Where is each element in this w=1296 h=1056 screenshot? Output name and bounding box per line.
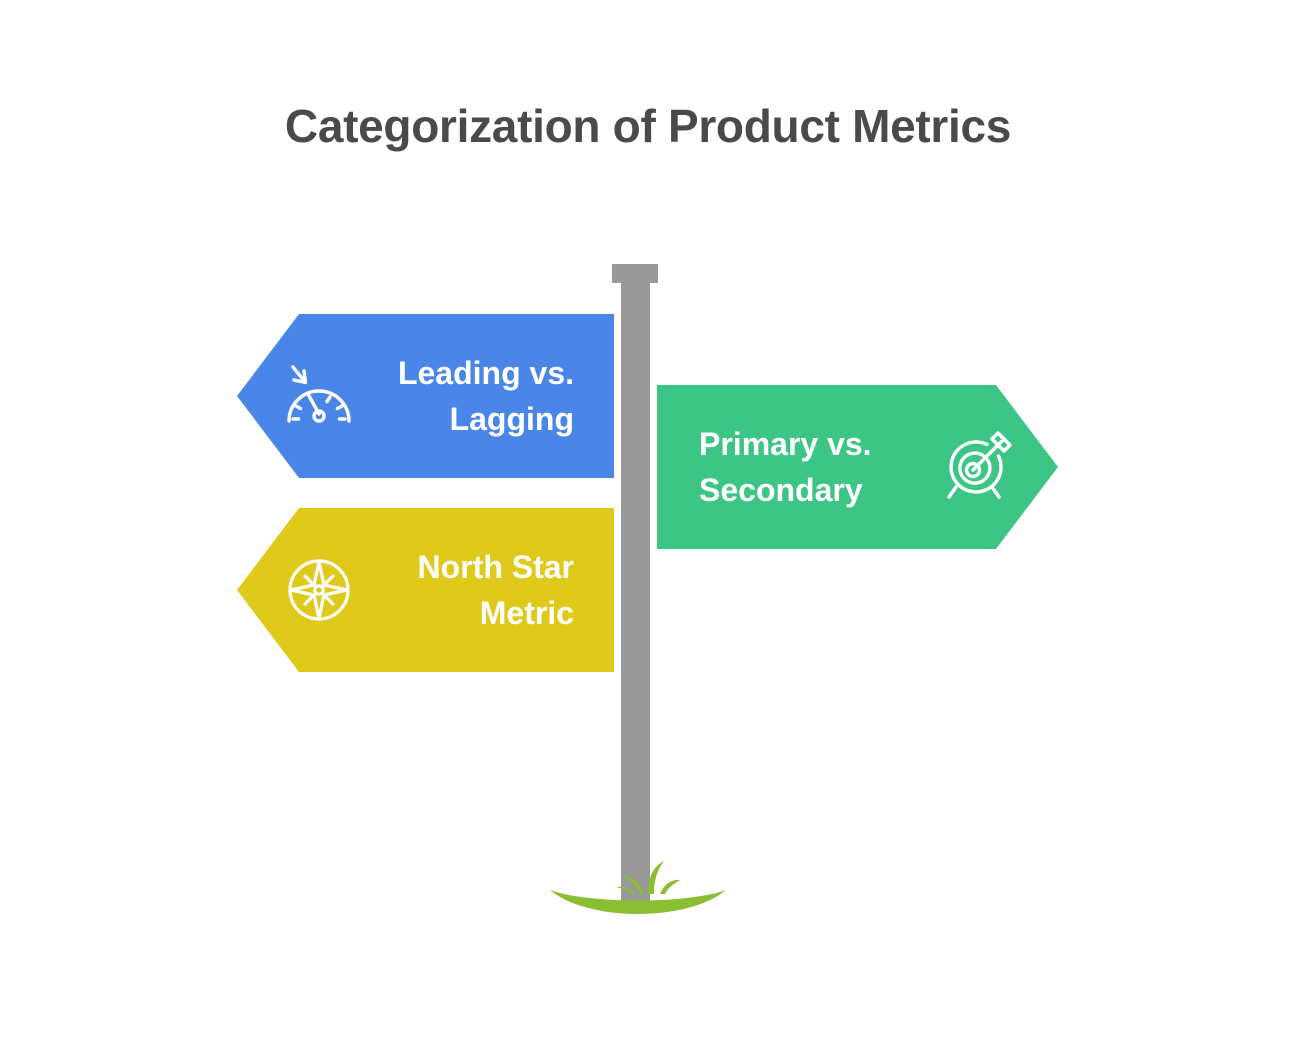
sign-label-leading-vs-lagging: Leading vs. Lagging: [355, 350, 592, 443]
sign-label-line: Metric: [355, 590, 574, 636]
grass-icon: [548, 860, 728, 930]
sign-leading-vs-lagging[interactable]: Leading vs. Lagging: [237, 314, 614, 478]
compass-rose-icon: [283, 554, 355, 626]
sign-label-line: Lagging: [355, 396, 574, 442]
sign-label-north-star-metric: North Star Metric: [355, 544, 592, 637]
sign-label-line: Primary vs.: [699, 421, 940, 467]
speedometer-icon: [283, 360, 355, 432]
sign-primary-vs-secondary[interactable]: Primary vs. Secondary: [657, 385, 1058, 549]
signpost-graphic: Leading vs. Lagging: [0, 0, 1296, 1056]
signpost-cap: [612, 264, 658, 283]
sign-label-line: Secondary: [699, 467, 940, 513]
sign-label-line: Leading vs.: [355, 350, 574, 396]
sign-label-line: North Star: [355, 544, 574, 590]
sign-north-star-metric[interactable]: North Star Metric: [237, 508, 614, 672]
sign-label-primary-vs-secondary: Primary vs. Secondary: [681, 421, 940, 514]
diagram-canvas: Categorization of Product Metrics: [0, 0, 1296, 1056]
signpost-shaft: [621, 283, 650, 908]
target-arrow-icon: [940, 431, 1012, 503]
